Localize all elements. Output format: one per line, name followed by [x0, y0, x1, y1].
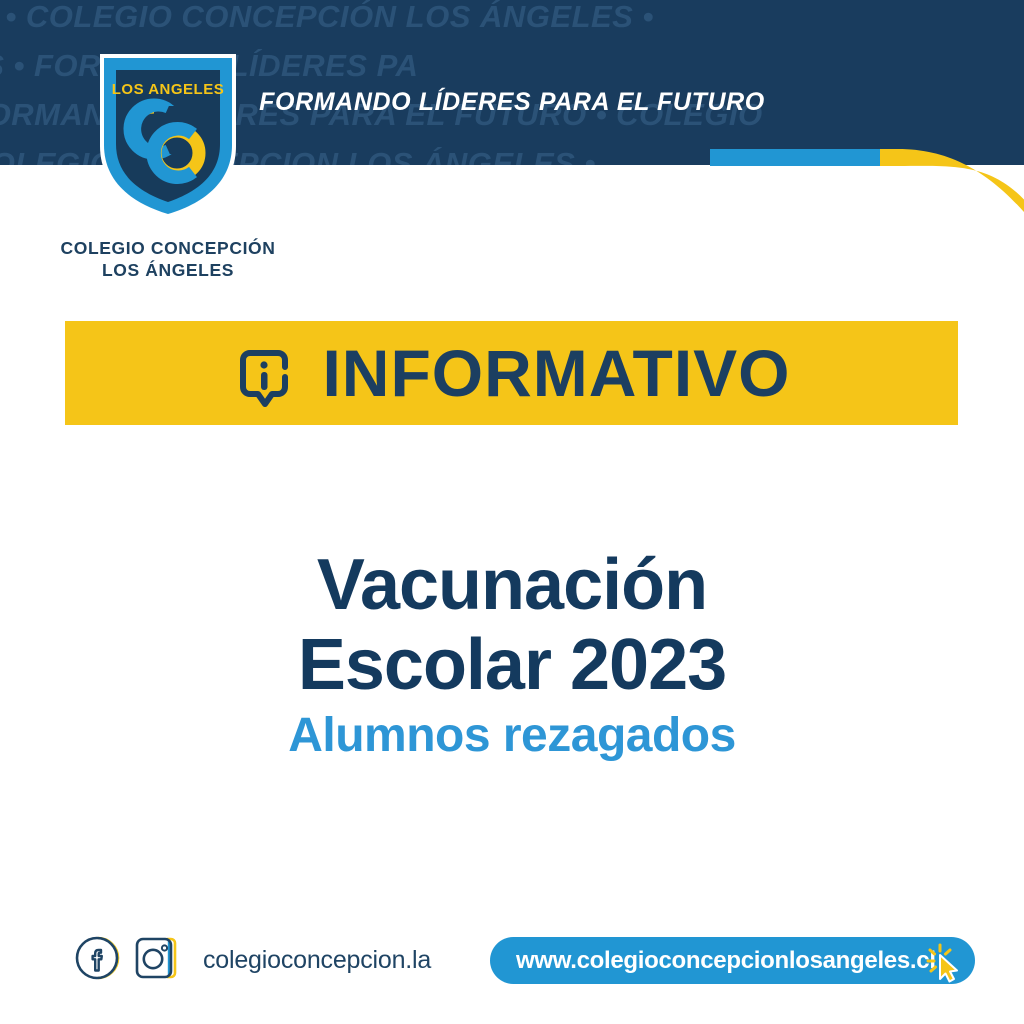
- school-name-line1: COLEGIO CONCEPCIÓN: [61, 238, 276, 258]
- social-group: colegioconcepcion.la: [75, 935, 431, 986]
- school-logo-block: LOS ANGELES COLEGIO CONCEPCIÓN LOS ÁNGEL…: [48, 50, 288, 281]
- school-name-line2: LOS ÁNGELES: [48, 259, 288, 281]
- footer: colegioconcepcion.la www.colegioconcepci…: [0, 925, 1024, 1015]
- school-name: COLEGIO CONCEPCIÓN LOS ÁNGELES: [48, 237, 288, 281]
- social-handle: colegioconcepcion.la: [203, 946, 431, 975]
- instagram-icon[interactable]: [133, 935, 179, 986]
- decorative-yellow-arc: [880, 140, 1024, 220]
- website-url: www.colegioconcepcionlosangeles.cl: [516, 947, 936, 975]
- shield-top-label: LOS ANGELES: [112, 81, 224, 98]
- title-block: Vacunación Escolar 2023 Alumnos rezagado…: [0, 545, 1024, 763]
- title-subtitle: Alumnos rezagados: [0, 709, 1024, 763]
- facebook-icon[interactable]: [75, 935, 121, 986]
- title-line-2: Escolar 2023: [0, 625, 1024, 705]
- click-cursor-icon: [923, 939, 969, 985]
- website-pill[interactable]: www.colegioconcepcionlosangeles.cl: [490, 937, 975, 984]
- title-line-1: Vacunación: [0, 545, 1024, 625]
- informativo-banner: INFORMATIVO: [65, 321, 958, 425]
- decorative-blue-bar: [710, 149, 898, 166]
- watermark-line: ES PARA EL FUTURO • COLEGIO CONCEPCIÓN L…: [0, 0, 1024, 41]
- informative-poster: ES PARA EL FUTURO • COLEGIO CONCEPCIÓN L…: [0, 0, 1024, 1024]
- informativo-label: INFORMATIVO: [322, 340, 790, 406]
- info-speech-bubble-icon: [232, 343, 296, 407]
- shield-crest: LOS ANGELES: [93, 50, 243, 223]
